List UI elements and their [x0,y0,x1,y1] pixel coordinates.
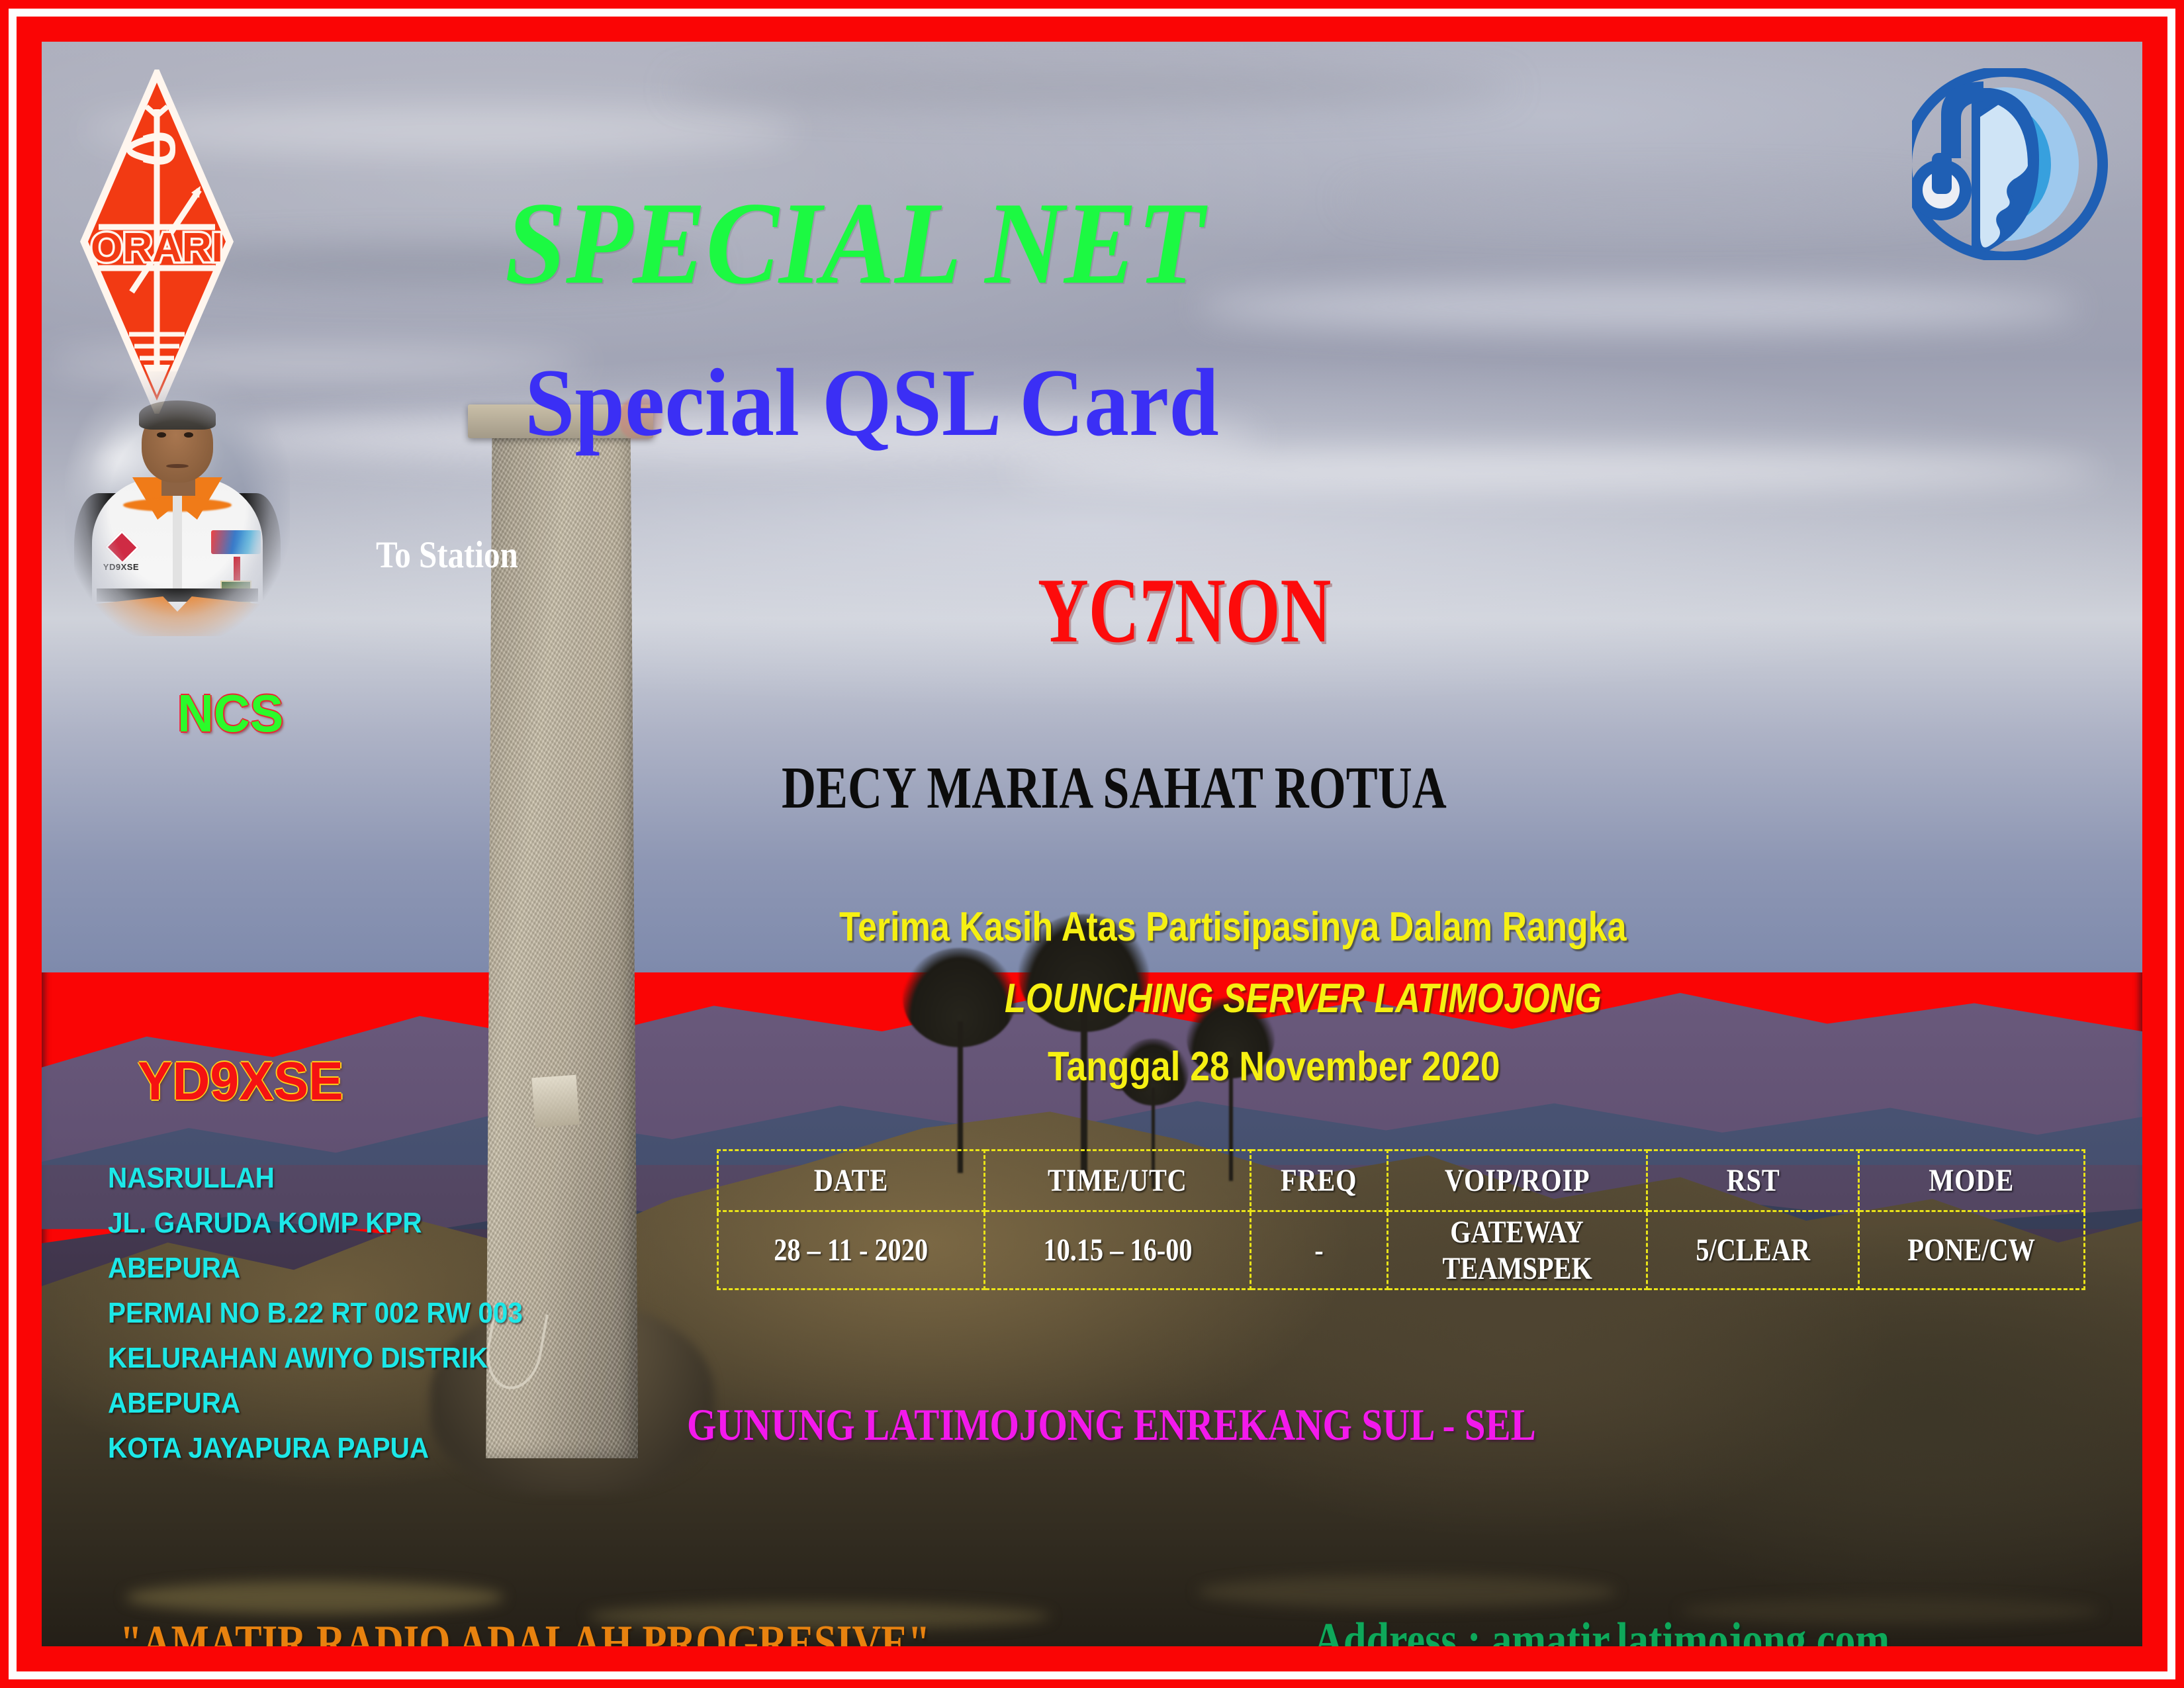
address-line: NASRULLAH [108,1162,523,1195]
cell-freq: - [1251,1211,1388,1289]
table-header-freq: FREQ [1251,1150,1388,1211]
cloud-band [1197,284,2079,330]
shirt-callsign-text: YD9XSE [103,562,139,572]
orari-logo-text: ORARI [91,225,223,271]
address-line: KOTA JAYAPURA PAPUA [108,1432,523,1465]
qsl-card: ORARI [0,0,2184,1688]
address-line: JL. GARUDA KOMP KPR [108,1207,523,1240]
monument-plaque [531,1075,579,1128]
ncs-label: NCS [177,687,283,740]
ncs-operator-photo: YD9XSE [65,371,290,636]
footer-website: Address : amatir.latimojong.com [1314,1616,1889,1646]
footer-motto: "AMATIR RADIO ADALAH PROGRESIVE" [120,1618,930,1646]
qso-log-table: DATE TIME/UTC FREQ VOIP/ROIP RST MODE 28… [717,1149,2085,1290]
card-subtitle-special-qsl-card: Special QSL Card [525,354,1219,451]
table-header-mode: MODE [1859,1150,2085,1211]
background-photograph: ORARI [42,42,2142,1646]
ncs-callsign: YD9XSE [138,1055,343,1109]
grass-tuft [126,1581,504,1613]
address-line: KELURAHAN AWIYO DISTRIK [108,1342,523,1375]
cell-date: 28 – 11 - 2020 [718,1211,985,1289]
cell-time: 10.15 – 16-00 [984,1211,1251,1289]
grass-tuft [1197,1575,1617,1608]
address-line: ABEPURA [108,1387,523,1420]
cloud-band [672,70,1512,107]
cloud-band [1344,181,1974,218]
table-row: 28 – 11 - 2020 10.15 – 16-00 - GATEWAY T… [718,1211,2085,1289]
cell-voip: GATEWAY TEAMSPEK [1387,1211,1647,1289]
thanks-line-1: Terima Kasih Atas Partisipasinya Dalam R… [839,907,1627,948]
cell-rst: 5/CLEAR [1647,1211,1859,1289]
recipient-operator-name: DECY MARIA SAHAT ROTUA [782,759,1447,818]
card-frame-red-inner: ORARI [17,17,2167,1671]
table-header-voip: VOIP/ROIP [1387,1150,1647,1211]
address-line: PERMAI NO B.22 RT 002 RW 003 [108,1297,523,1330]
table-header-date: DATE [718,1150,985,1211]
table-header-row: DATE TIME/UTC FREQ VOIP/ROIP RST MODE [718,1150,2085,1211]
cell-mode: PONE/CW [1859,1211,2085,1289]
address-line: ABEPURA [108,1252,523,1285]
to-station-label: To Station [376,536,518,574]
recipient-callsign: YC7NON [1038,565,1331,657]
table-header-time: TIME/UTC [984,1150,1251,1211]
sender-address-block: NASRULLAH JL. GARUDA KOMP KPR ABEPURA PE… [108,1162,559,1477]
card-title-special-net: SPECIAL NET [505,184,1204,302]
headset-profile-logo [1912,68,2111,260]
orari-logo: ORARI [80,70,234,414]
cloud-band [1008,451,2100,489]
table-header-rst: RST [1647,1150,1859,1211]
location-caption: GUNUNG LATIMOJONG ENREKANG SUL - SEL [687,1402,1536,1447]
thanks-line-2-event: LOUNCHING SERVER LATIMOJONG [1005,978,1602,1019]
tree [903,957,1016,1173]
thanks-line-3-date: Tanggal 28 November 2020 [1048,1047,1500,1088]
